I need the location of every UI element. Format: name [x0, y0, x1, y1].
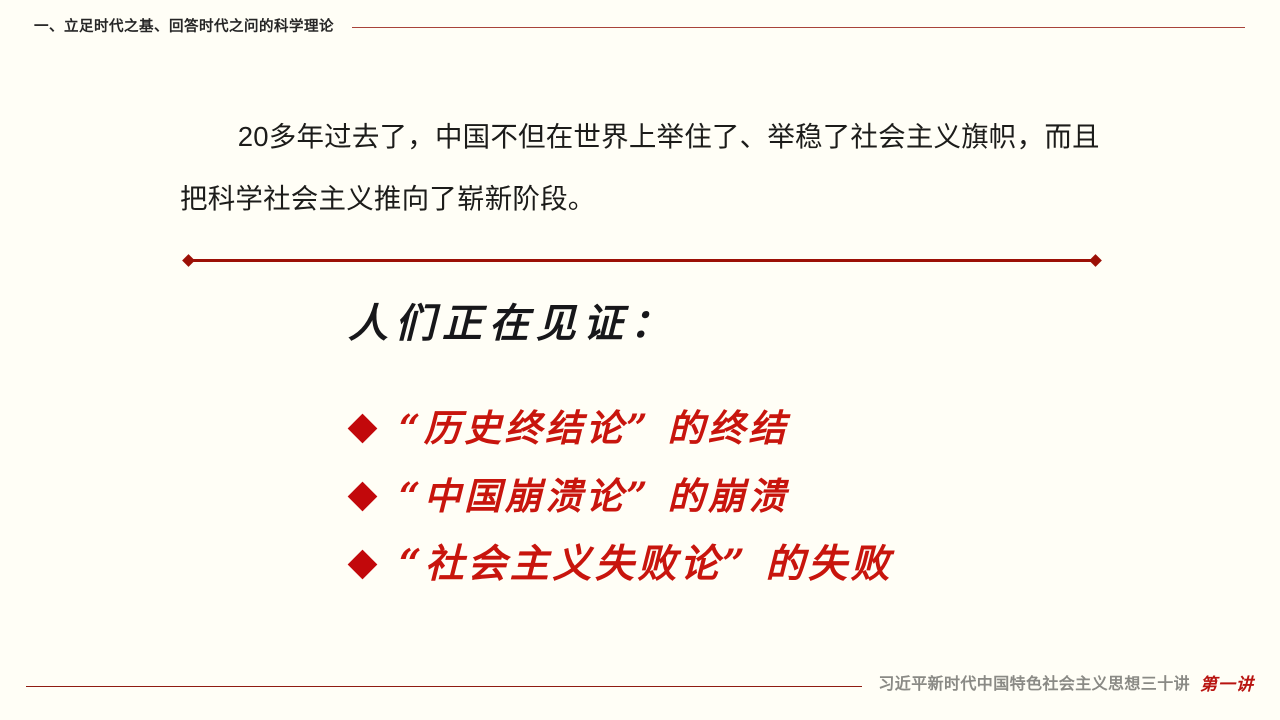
- diamond-bullet-icon: [348, 413, 378, 443]
- presentation-slide: 一、立足时代之基、回答时代之问的科学理论 20多年过去了，中国不但在世界上举住了…: [0, 0, 1280, 720]
- header-divider-rule: [352, 27, 1245, 28]
- footer-lecture-label: 第一讲: [1200, 677, 1254, 694]
- list-item: “中国崩溃论” 的崩溃: [352, 462, 1132, 530]
- list-item: “历史终结论” 的终结: [352, 394, 1132, 462]
- footer-divider-rule: [26, 686, 862, 687]
- diamond-bullet-icon: [348, 549, 378, 579]
- slide-header: 一、立足时代之基、回答时代之问的科学理论: [34, 16, 1245, 38]
- divider-diamond-right-icon: [1089, 254, 1102, 267]
- list-item: “社会主义失败论” 的失败: [352, 530, 1132, 598]
- footer-series-title: 习近平新时代中国特色社会主义思想三十讲: [878, 677, 1190, 693]
- list-item-label: “历史终结论” 的终结: [399, 407, 789, 450]
- section-divider: [184, 252, 1100, 268]
- brush-heading: 人们正在见证：: [348, 300, 677, 348]
- divider-line: [188, 259, 1096, 262]
- slide-footer: 习近平新时代中国特色社会主义思想三十讲 第一讲: [26, 672, 1254, 698]
- section-heading: 一、立足时代之基、回答时代之问的科学理论: [34, 20, 334, 35]
- list-item-label: “中国崩溃论” 的崩溃: [399, 475, 789, 518]
- bullet-list: “历史终结论” 的终结 “中国崩溃论” 的崩溃 “社会主义失败论” 的失败: [352, 394, 1132, 598]
- list-item-label: “社会主义失败论” 的失败: [399, 542, 893, 587]
- diamond-bullet-icon: [348, 481, 378, 511]
- body-paragraph: 20多年过去了，中国不但在世界上举住了、举稳了社会主义旗帜，而且把科学社会主义推…: [180, 106, 1120, 230]
